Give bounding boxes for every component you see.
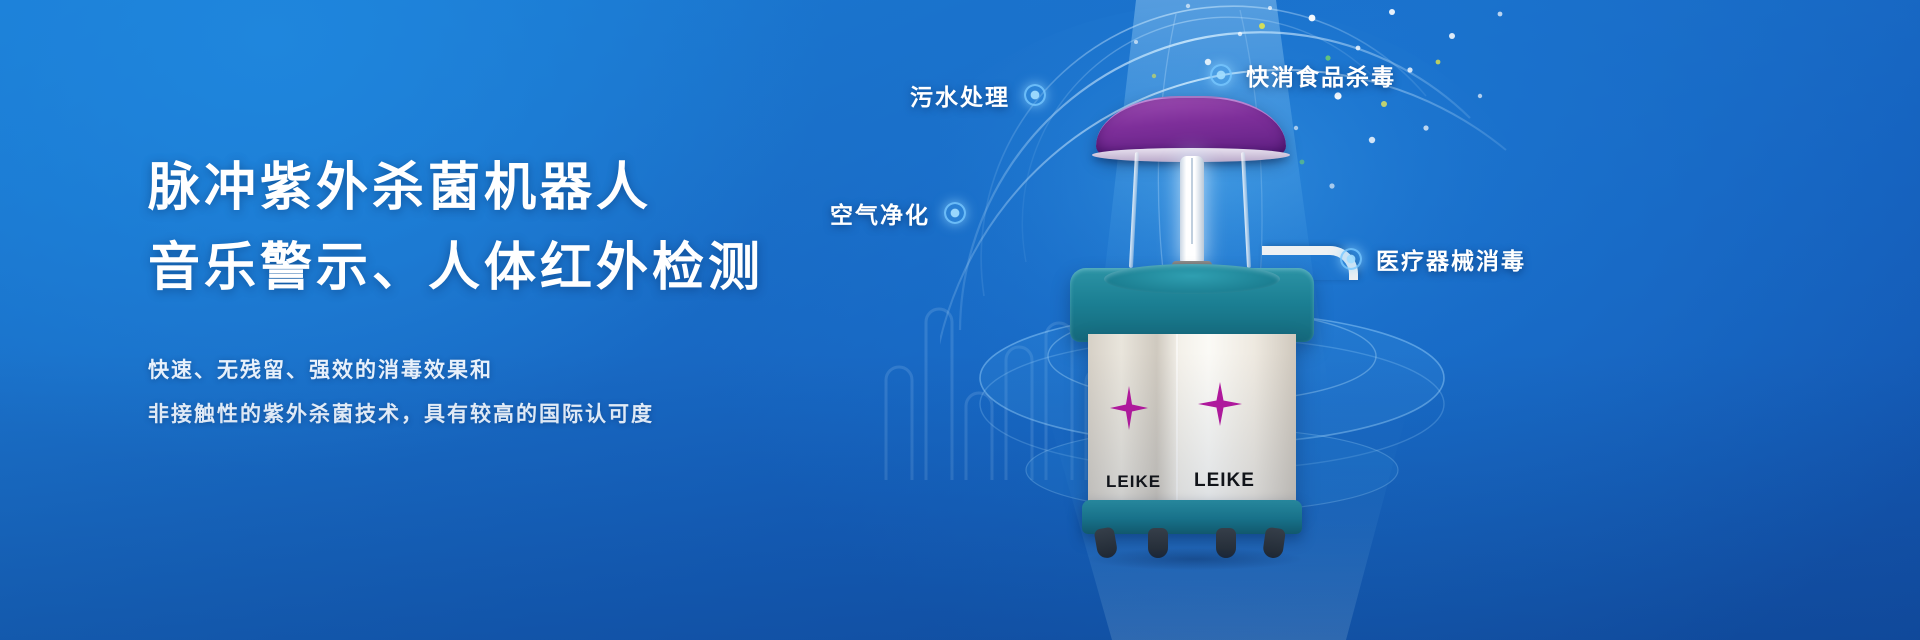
callout-food-disinfection: 快消食品杀毒 [1210, 58, 1396, 92]
node-marker-icon [1210, 64, 1232, 86]
headline-line-1: 脉冲紫外杀菌机器人 [148, 150, 868, 226]
lamp-strut-left [1129, 152, 1139, 268]
copy-block: 脉冲紫外杀菌机器人 音乐警示、人体红外检测 快速、无残留、强效的消毒效果和 非接… [148, 150, 868, 436]
callout-medical-device-sterilization: 医疗器械消毒 [1340, 242, 1526, 276]
callout-sewage-treatment: 污水处理 [910, 78, 1046, 112]
node-marker-icon [1340, 248, 1362, 270]
uv-disinfection-robot: LEIKE LEIKE [1048, 96, 1378, 516]
headline-line-2: 音乐警示、人体红外检测 [148, 230, 868, 306]
brand-label-left: LEIKE [1106, 472, 1161, 492]
floor-shadow [1088, 548, 1302, 570]
callout-label: 空气净化 [830, 196, 930, 230]
subtitle-line-1: 快速、无残留、强效的消毒效果和 [148, 348, 868, 392]
cabinet-edge [1176, 334, 1178, 504]
callout-air-purification: 空气净化 [830, 196, 966, 230]
subtitle-line-2: 非接触性的紫外杀菌技术，具有较高的国际认可度 [148, 392, 868, 436]
callout-label: 医疗器械消毒 [1376, 242, 1526, 276]
brand-label-right: LEIKE [1194, 470, 1255, 492]
product-scene: LEIKE LEIKE 污水处理 快消食品杀毒 空气净化 医疗器械消毒 [940, 0, 1920, 640]
lamp-strut-right [1241, 152, 1251, 268]
callout-label: 快消食品杀毒 [1246, 58, 1396, 92]
callout-label: 污水处理 [910, 78, 1010, 112]
top-turntable-disc [1104, 264, 1280, 294]
node-marker-icon [944, 202, 966, 224]
lamp-tube-seam [1191, 158, 1193, 244]
product-banner: 脉冲紫外杀菌机器人 音乐警示、人体红外检测 快速、无残留、强效的消毒效果和 非接… [0, 0, 1920, 640]
node-marker-icon [1024, 84, 1046, 106]
